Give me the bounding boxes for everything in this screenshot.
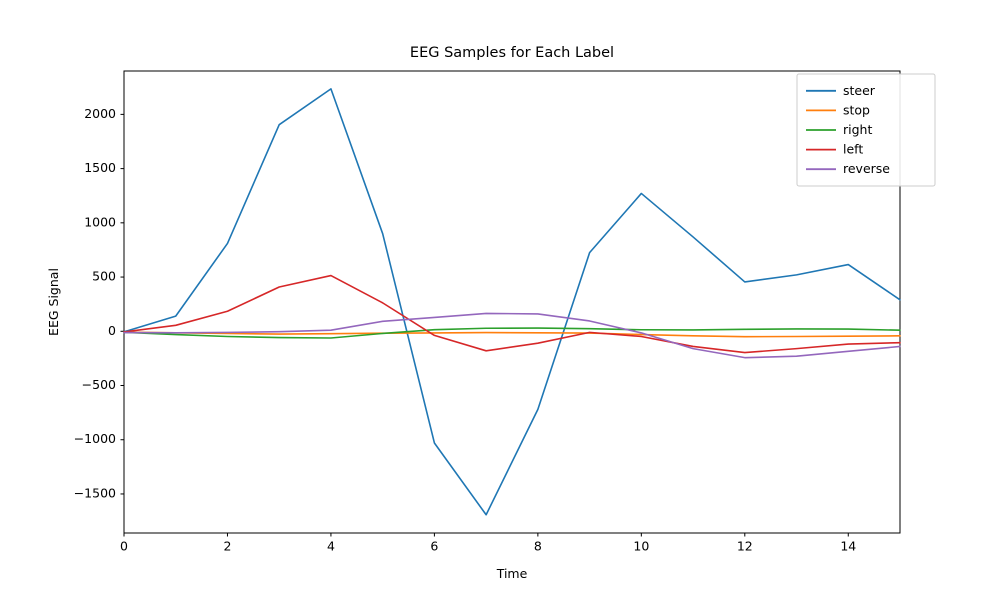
x-tick-label: 12	[737, 539, 753, 554]
y-tick-label: 1500	[84, 160, 116, 175]
x-tick-label: 8	[534, 539, 542, 554]
y-tick-label: −1000	[74, 431, 116, 446]
x-tick-label: 14	[840, 539, 856, 554]
x-axis-label: Time	[496, 566, 528, 581]
legend-label-reverse: reverse	[843, 161, 890, 176]
y-tick-label: 500	[92, 269, 116, 284]
x-tick-label: 10	[633, 539, 649, 554]
chart-legend[interactable]: steerstoprightleftreverse	[797, 74, 935, 186]
matplotlib-figure: EEG Samples for Each Label −1500−1000−50…	[0, 0, 1000, 600]
y-tick-label: −500	[82, 377, 116, 392]
y-tick-label: 2000	[84, 106, 116, 121]
legend-label-left: left	[843, 142, 863, 157]
x-tick-label: 2	[223, 539, 231, 554]
x-tick-label: 0	[120, 539, 128, 554]
y-tick-label: −1500	[74, 485, 116, 500]
legend-label-stop: stop	[843, 102, 870, 117]
x-tick-label: 4	[327, 539, 335, 554]
y-tick-label: 0	[108, 323, 116, 338]
legend-label-right: right	[843, 122, 872, 137]
page-title: EEG Samples for Each Label	[410, 45, 614, 61]
y-tick-label: 1000	[84, 214, 116, 229]
legend-label-steer: steer	[843, 83, 876, 98]
x-tick-label: 6	[430, 539, 438, 554]
eeg-line-chart: EEG Samples for Each Label −1500−1000−50…	[0, 0, 1000, 600]
y-axis-label: EEG Signal	[46, 268, 61, 336]
